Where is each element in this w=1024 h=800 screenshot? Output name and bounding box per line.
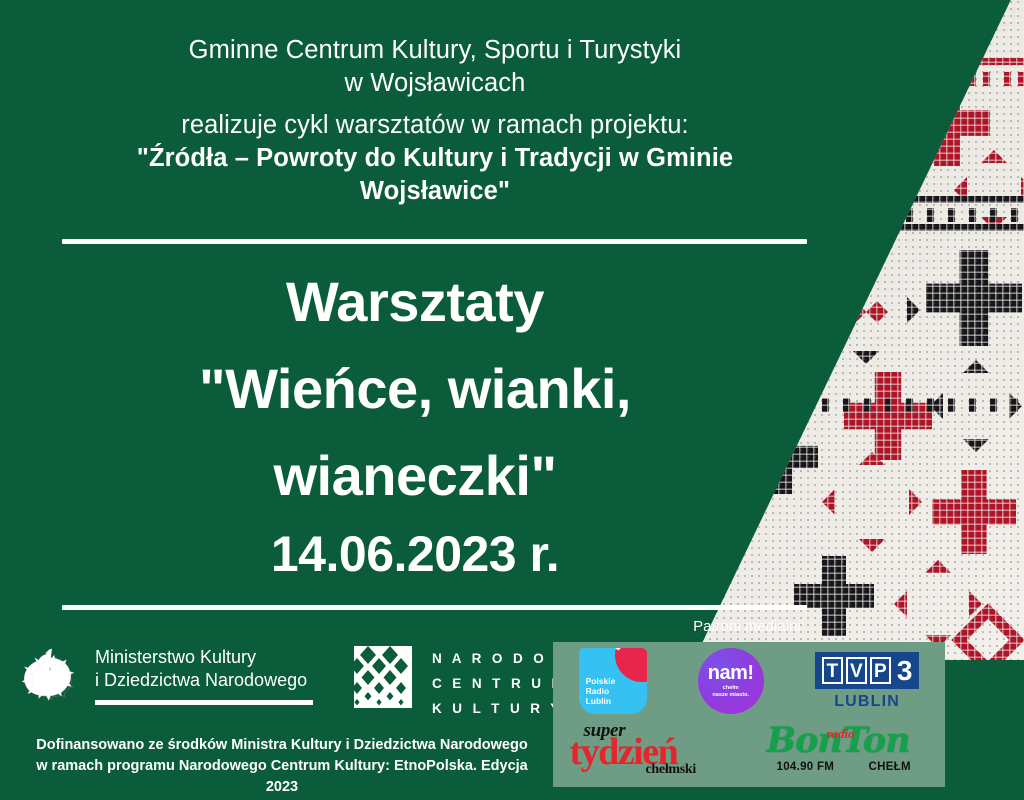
header-spacer: [0, 100, 870, 109]
nam-wordmark: nam!: [708, 663, 754, 683]
title-line-name-1: "Wieńce, wianki,: [0, 345, 830, 432]
super-tydzien-chelmski-logo: super tydzień chełmski: [570, 720, 730, 776]
nam-tagline-line-2: nasze miasto.: [712, 692, 749, 699]
funding-note-line-2: w ramach programu Narodowego Centrum Kul…: [22, 756, 542, 798]
prl-line-3: Lublin: [586, 696, 616, 706]
tvp3-region-label: LUBLIN: [815, 693, 920, 711]
nam-chelm-logo: nam! chełm nasze miasto.: [698, 648, 764, 714]
title-line-warsztaty: Warsztaty: [0, 258, 830, 345]
radio-bonton-logo: BonTon radio 104.90 FM CHEŁM: [763, 720, 929, 776]
event-title-block: Warsztaty "Wieńce, wianki, wianeczki" 14…: [0, 258, 830, 589]
polish-eagle-icon: [22, 645, 82, 707]
polskie-radio-lublin-logo: Polskie Radio Lublin: [579, 648, 647, 714]
header-text-block: Gminne Centrum Kultury, Sportu i Turysty…: [0, 34, 870, 208]
header-line-organizer-1: Gminne Centrum Kultury, Sportu i Turysty…: [0, 34, 870, 67]
nck-crown-mark-icon: [352, 644, 414, 710]
nam-tagline-line-1: chełm: [712, 685, 749, 692]
ministry-line-1: Ministerstwo Kultury: [95, 646, 313, 669]
prl-line-2: Radio: [586, 686, 616, 696]
divider-rule-top: [62, 239, 807, 244]
nam-tagline: chełm nasze miasto.: [712, 685, 749, 699]
header-line-organizer-2: w Wojsławicach: [0, 67, 870, 100]
funding-disclaimer: Dofinansowano ze środków Ministra Kultur…: [22, 735, 542, 798]
prl-line-1: Polskie: [586, 676, 616, 686]
prl-wordmark: Polskie Radio Lublin: [586, 676, 616, 706]
bonton-radio-label: radio: [827, 726, 855, 742]
tvp3-letter-v: V: [846, 657, 867, 684]
event-date: 14.06.2023 r.: [0, 519, 830, 589]
funding-note-line-1: Dofinansowano ze środków Ministra Kultur…: [22, 735, 542, 756]
title-line-name-2: wianeczki": [0, 432, 830, 519]
media-patrons-label: Patroni medialni:: [553, 618, 945, 635]
tvp3-lublin-logo: T V P 3 LUBLIN: [815, 652, 920, 711]
tvp3-letter-p: P: [870, 657, 891, 684]
header-line-project-1: "Źródła – Powroty do Kultury i Tradycji …: [0, 142, 870, 175]
stc-chelmski-word: chełmski: [646, 762, 697, 778]
ministry-underline-rule: [95, 699, 313, 706]
ministry-wordmark: Ministerstwo Kultury i Dziedzictwa Narod…: [95, 645, 313, 706]
header-line-intro: realizuje cykl warsztatów w ramach proje…: [0, 109, 870, 142]
media-patrons-row-bottom: super tydzień chełmski BonTon radio 104.…: [553, 720, 945, 776]
tvp3-channel-number: 3: [894, 657, 913, 684]
divider-rule-bottom: [62, 605, 807, 610]
tvp3-letter-t: T: [822, 657, 843, 684]
ministry-of-culture-logo: Ministerstwo Kultury i Dziedzictwa Narod…: [22, 645, 313, 707]
media-patrons-row-top: Polskie Radio Lublin nam! chełm nasze mi…: [553, 648, 945, 714]
media-patrons-panel: Polskie Radio Lublin nam! chełm nasze mi…: [553, 642, 945, 787]
poster-canvas: Gminne Centrum Kultury, Sportu i Turysty…: [0, 0, 1024, 800]
tvp3-badge: T V P 3: [815, 652, 920, 689]
bonton-city: CHEŁM: [869, 761, 911, 773]
ministry-line-2: i Dziedzictwa Narodowego: [95, 669, 313, 692]
header-line-project-2: Wojsławice": [0, 175, 870, 208]
bonton-frequency: 104.90 FM: [777, 761, 835, 773]
